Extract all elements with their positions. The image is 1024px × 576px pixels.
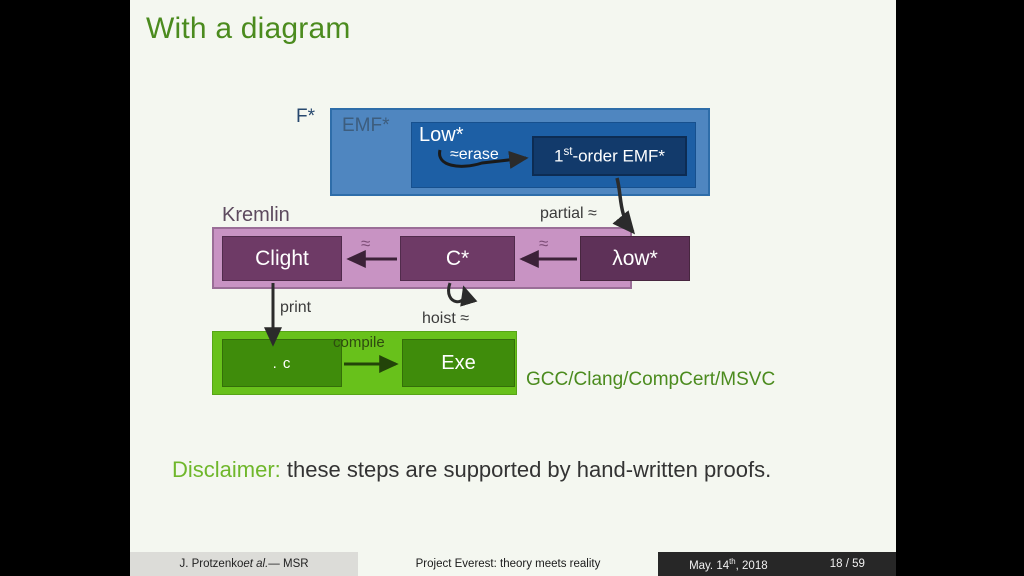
- compile-edge-label: compile: [333, 334, 385, 351]
- partial-edge-label: partial ≈: [540, 205, 597, 223]
- footer-page-number: 18 / 59: [830, 558, 865, 570]
- disclaimer-line: Disclaimer: these steps are supported by…: [172, 457, 771, 483]
- footer-meta: May. 14th, 2018 18 / 59: [658, 552, 896, 576]
- approx-edge-label-cstar: ≈: [539, 234, 548, 254]
- disclaimer-text: these steps are supported by hand-writte…: [287, 457, 771, 482]
- fstar-group-label: F*: [296, 106, 315, 128]
- lambda-ow-star-node: λow*: [580, 236, 690, 281]
- print-edge-label: print: [280, 299, 311, 317]
- dot-c-node: . c: [222, 339, 342, 387]
- disclaimer-keyword: Disclaimer:: [172, 457, 281, 482]
- first-order-emf-node: 1st-order EMF*: [532, 136, 687, 176]
- footer-talk-title: Project Everest: theory meets reality: [358, 552, 658, 576]
- screen: With a diagram F* EMF* Low* 1st-order EM…: [0, 0, 1024, 576]
- exe-node: Exe: [402, 339, 515, 387]
- low-star-label: Low*: [419, 124, 463, 147]
- slide-canvas: With a diagram F* EMF* Low* 1st-order EM…: [130, 0, 896, 576]
- clight-node: Clight: [222, 236, 342, 281]
- first-order-emf-text: 1st-order EMF*: [554, 146, 665, 167]
- toolchain-label: GCC/Clang/CompCert/MSVC: [526, 369, 775, 391]
- page-title: With a diagram: [146, 12, 351, 46]
- emf-band-label: EMF*: [342, 115, 390, 137]
- hoist-edge-label: hoist ≈: [422, 310, 469, 328]
- footer-author: J. Protzenko et al. — MSR: [130, 552, 358, 576]
- c-star-node: C*: [400, 236, 515, 281]
- approx-edge-label-clight: ≈: [361, 234, 370, 254]
- erase-edge-label: ≈erase: [450, 146, 499, 164]
- footer-date: May. 14th, 2018: [689, 557, 768, 572]
- kremlin-group-label: Kremlin: [222, 204, 290, 227]
- slide-footer: J. Protzenko et al. — MSR Project Everes…: [130, 552, 896, 576]
